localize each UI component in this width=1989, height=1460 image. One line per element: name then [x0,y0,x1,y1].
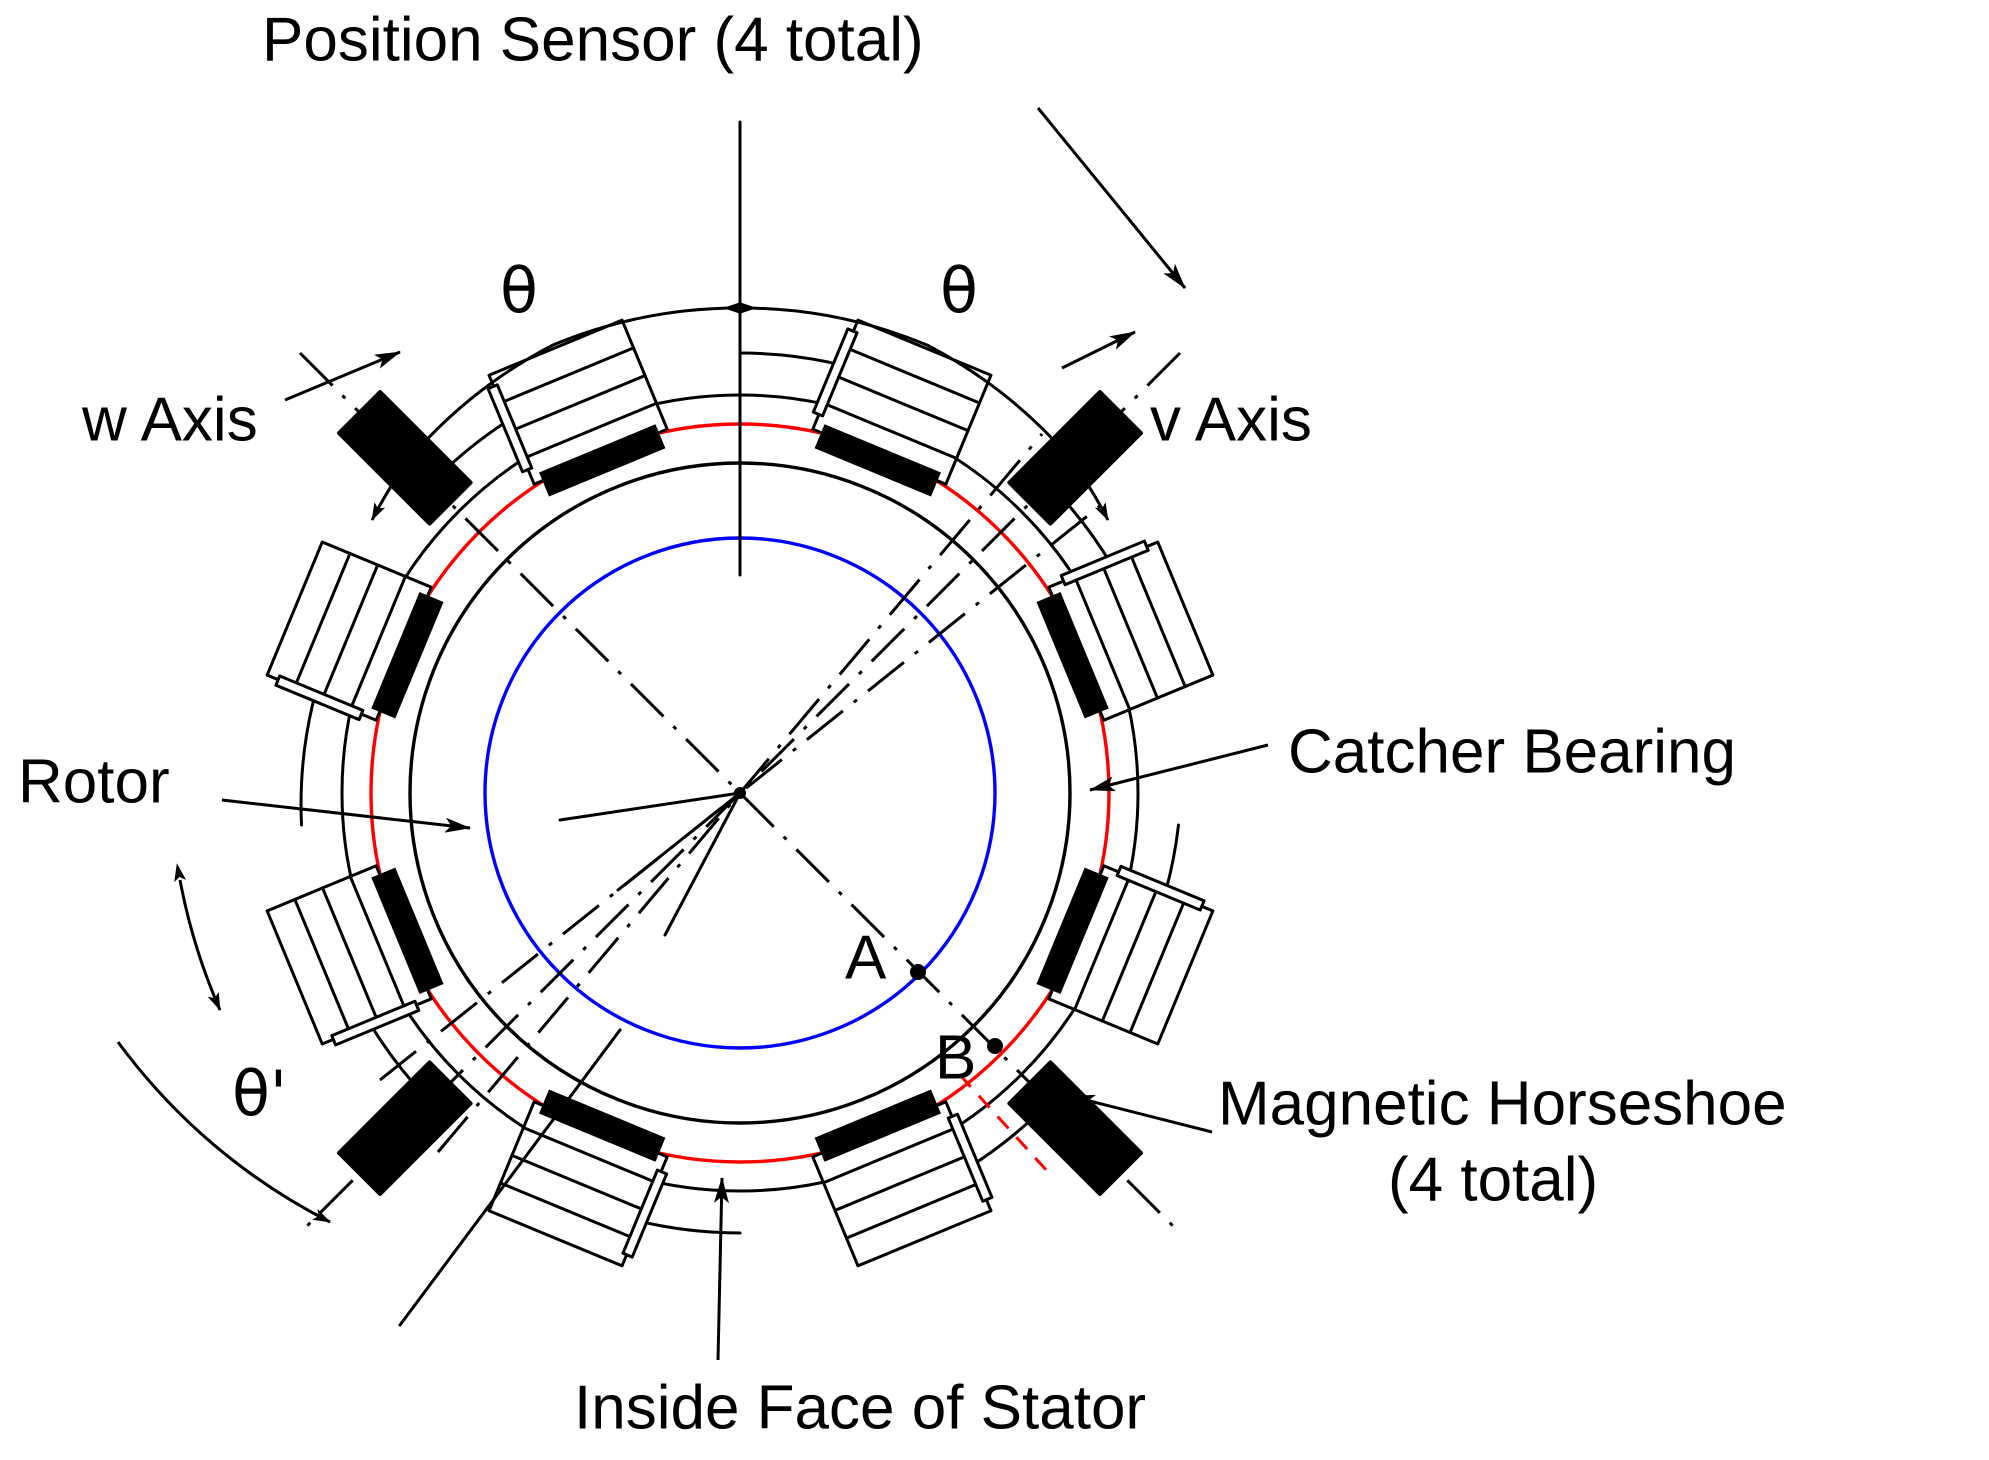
w-axis-label: w Axis [81,385,258,454]
horseshoe-coil [267,860,448,1050]
v-axis-leader [1062,332,1135,368]
position-sensor-leader [1038,108,1185,288]
rotor-leader [222,800,470,828]
horseshoe-coil [807,1085,997,1266]
diagram-canvas: Position Sensor (4 total) θ θ w Axis v A… [0,0,1989,1460]
theta-prime-arc-lower [118,1042,330,1222]
position-sensor-label: Position Sensor (4 total) [262,5,924,74]
theta-left-label: θ [500,254,538,327]
horseshoe-coil [489,1087,679,1268]
theta-right-label: θ [940,254,978,327]
horseshoe-coil [483,320,673,501]
catcher-bearing-label: Catcher Bearing [1288,717,1736,786]
point-b-dot [987,1038,1003,1054]
horseshoe-coil [801,318,991,499]
rotor-label: Rotor [18,747,170,816]
magnetic-horseshoe-label-line1: Magnetic Horseshoe [1218,1069,1787,1138]
horseshoe-coil [1032,536,1213,726]
inside-face-stator-leader [718,1178,722,1360]
magnetic-horseshoe-label-line2: (4 total) [1388,1145,1598,1214]
point-a-label: A [845,923,887,992]
inside-face-of-stator-label: Inside Face of Stator [574,1373,1146,1442]
point-a-dot [910,964,926,980]
horseshoe-coil [1034,854,1215,1044]
v-axis-label: v Axis [1150,385,1312,454]
magnetic-bearing-cross-section: Position Sensor (4 total) θ θ w Axis v A… [0,0,1989,1460]
theta-prime-label: θ' [232,1057,287,1130]
catcher-bearing-leader [1090,745,1268,790]
horseshoe-coil [265,542,446,732]
theta-prime-arc-upper [180,880,220,1010]
point-b-label: B [935,1023,976,1092]
